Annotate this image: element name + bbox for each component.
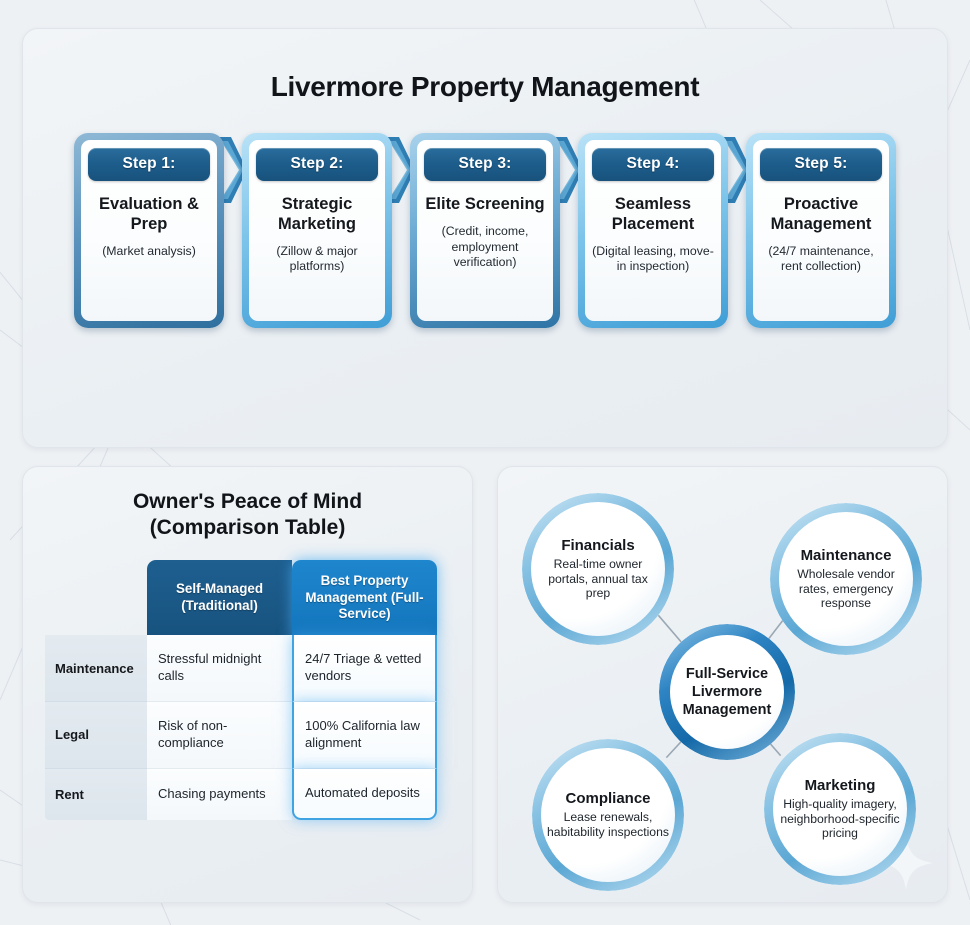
satellite-desc-compliance: Lease renewals, habitability inspections [546, 810, 670, 840]
step-wrapper-2: Step 2: Strategic Marketing (Zillow & ma… [242, 133, 392, 328]
step-title-2: Strategic Marketing [256, 195, 378, 235]
step-subtitle-4: (Digital leasing, move-in inspection) [592, 244, 714, 275]
step-card-2[interactable]: Step 2: Strategic Marketing (Zillow & ma… [242, 133, 392, 328]
table-cell-rent-self-managed: Chasing payments [147, 769, 292, 820]
step-title-4: Seamless Placement [592, 195, 714, 235]
satellite-title-financials: Financials [561, 537, 634, 554]
table-row-label-rent: Rent [45, 769, 147, 820]
comparison-title: Owner's Peace of Mind (Comparison Table) [45, 489, 450, 540]
step-subtitle-3: (Credit, income, employment verification… [424, 224, 546, 271]
hub-stage: Financials Real-time owner portals, annu… [498, 467, 947, 902]
step-card-1[interactable]: Step 1: Evaluation & Prep (Market analys… [74, 133, 224, 328]
step-badge-1: Step 1: [88, 148, 210, 181]
step-card-5[interactable]: Step 5: Proactive Management (24/7 maint… [746, 133, 896, 328]
step-subtitle-2: (Zillow & major platforms) [256, 244, 378, 275]
satellite-desc-maintenance: Wholesale vendor rates, emergency respon… [784, 567, 908, 612]
step-subtitle-1: (Market analysis) [102, 244, 196, 260]
table-cell-maintenance-self-managed: Stressful midnight calls [147, 635, 292, 702]
satellite-title-compliance: Compliance [565, 790, 650, 807]
step-wrapper-3: Step 3: Elite Screening (Credit, income,… [410, 133, 560, 328]
table-cell-legal-self-managed: Risk of non-compliance [147, 702, 292, 769]
table-row-label-maintenance: Maintenance [45, 635, 147, 702]
step-wrapper-5: Step 5: Proactive Management (24/7 maint… [746, 133, 896, 328]
comparison-panel: Owner's Peace of Mind (Comparison Table)… [22, 466, 473, 903]
table-cell-rent-full-service: Automated deposits [292, 769, 437, 820]
step-badge-4: Step 4: [592, 148, 714, 181]
table-cell-legal-full-service: 100% California law alignment [292, 702, 437, 769]
step-badge-3: Step 3: [424, 148, 546, 181]
step-card-3[interactable]: Step 3: Elite Screening (Credit, income,… [410, 133, 560, 328]
hub-center-circle[interactable]: Full-Service Livermore Management [659, 624, 795, 760]
satellite-desc-marketing: High-quality imagery, neighborhood-speci… [778, 797, 902, 842]
step-subtitle-5: (24/7 maintenance, rent collection) [760, 244, 882, 275]
comparison-table: Self-Managed (Traditional) Best Property… [45, 560, 450, 819]
table-cell-maintenance-full-service: 24/7 Triage & vetted vendors [292, 635, 437, 702]
table-header-full-service: Best Property Management (Full-Service) [292, 560, 437, 635]
step-badge-5: Step 5: [760, 148, 882, 181]
step-title-3: Elite Screening [425, 195, 544, 215]
step-wrapper-1: Step 1: Evaluation & Prep (Market analys… [74, 133, 224, 328]
step-title-1: Evaluation & Prep [88, 195, 210, 235]
table-header-self-managed: Self-Managed (Traditional) [147, 560, 292, 635]
satellite-title-maintenance: Maintenance [801, 547, 892, 564]
step-title-5: Proactive Management [760, 195, 882, 235]
bottom-row: Owner's Peace of Mind (Comparison Table)… [22, 466, 948, 903]
table-row-label-legal: Legal [45, 702, 147, 769]
step-wrapper-4: Step 4: Seamless Placement (Digital leas… [578, 133, 728, 328]
satellite-maintenance[interactable]: Maintenance Wholesale vendor rates, emer… [770, 503, 922, 655]
hub-and-spoke-panel: Financials Real-time owner portals, annu… [497, 466, 948, 903]
process-panel: Livermore Property Management Step 1: Ev… [22, 28, 948, 448]
infographic-root: Livermore Property Management Step 1: Ev… [0, 0, 970, 925]
process-steps-row: Step 1: Evaluation & Prep (Market analys… [49, 133, 921, 328]
satellite-desc-financials: Real-time owner portals, annual tax prep [536, 557, 660, 602]
step-card-4[interactable]: Step 4: Seamless Placement (Digital leas… [578, 133, 728, 328]
satellite-compliance[interactable]: Compliance Lease renewals, habitability … [532, 739, 684, 891]
table-corner-cell [45, 560, 147, 635]
hub-center-label: Full-Service Livermore Management [683, 665, 772, 719]
satellite-financials[interactable]: Financials Real-time owner portals, annu… [522, 493, 674, 645]
satellite-title-marketing: Marketing [805, 777, 876, 794]
page-title: Livermore Property Management [49, 71, 921, 103]
step-badge-2: Step 2: [256, 148, 378, 181]
satellite-marketing[interactable]: Marketing High-quality imagery, neighbor… [764, 733, 916, 885]
